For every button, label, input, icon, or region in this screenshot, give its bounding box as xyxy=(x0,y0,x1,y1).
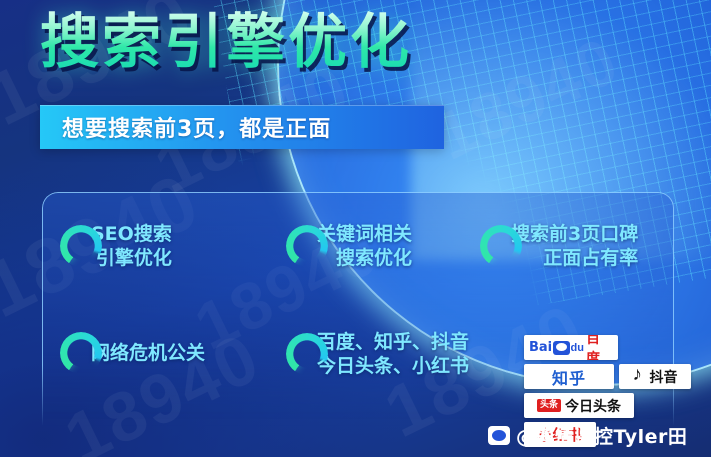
feature-label: 搜索前3页口碑 正面占有率 xyxy=(511,222,638,271)
page-title: 搜索引擎优化 xyxy=(40,9,412,75)
feature-line-1: 百度、知乎、抖音 xyxy=(317,331,469,353)
feature-label: 关键词相关 搜索优化 xyxy=(317,222,412,271)
zhihu-cn: 知乎 xyxy=(552,365,586,389)
toutiao-logo[interactable]: 头条 今日头条 xyxy=(524,393,634,418)
douyin-cn: 抖音 xyxy=(650,367,678,387)
baidu-logo[interactable]: Bai du 百度 xyxy=(524,335,618,360)
feature-item-top3pages[interactable]: 搜索前3页口碑 正面占有率 xyxy=(480,222,638,271)
baidu-sub: du xyxy=(571,342,584,354)
feature-line-2: 引擎优化 xyxy=(91,246,172,270)
feature-item-seo[interactable]: SEO搜索 引擎优化 xyxy=(60,222,172,271)
baidu-paw-icon xyxy=(488,426,510,445)
author-handle: @舆情监控Tyler田 xyxy=(516,422,687,449)
arc-c-icon xyxy=(60,225,102,267)
subtitle-bar: 想要搜索前3页，都是正面 xyxy=(40,105,444,149)
arc-c-icon xyxy=(286,225,328,267)
subtitle-text: 想要搜索前3页，都是正面 xyxy=(62,111,331,143)
zhihu-logo[interactable]: 知乎 xyxy=(524,364,614,389)
poster-canvas: 18940 18940 18940 18940 18940 18940 1894… xyxy=(0,0,711,457)
feature-line-1: 网络危机公关 xyxy=(91,342,205,364)
feature-line-2: 正面占有率 xyxy=(511,246,638,270)
feature-label: 网络危机公关 xyxy=(91,344,205,363)
feature-line-2: 今日头条、小红书 xyxy=(317,354,469,378)
arc-c-icon xyxy=(480,225,522,267)
arc-c-icon xyxy=(60,332,102,374)
toutiao-tag: 头条 xyxy=(537,399,561,412)
feature-item-keyword[interactable]: 关键词相关 搜索优化 xyxy=(286,222,412,271)
feature-line-1: 搜索前3页口碑 xyxy=(511,223,638,245)
feature-label: 百度、知乎、抖音 今日头条、小红书 xyxy=(317,330,469,379)
author-watermark: @舆情监控Tyler田 xyxy=(488,422,687,449)
arc-c-icon xyxy=(286,333,328,375)
feature-item-platforms[interactable]: 百度、知乎、抖音 今日头条、小红书 xyxy=(286,330,469,379)
baidu-paw-icon xyxy=(553,341,569,355)
feature-line-2: 搜索优化 xyxy=(317,246,412,270)
music-note-icon xyxy=(633,369,647,385)
feature-item-crisis-pr[interactable]: 网络危机公关 xyxy=(60,332,205,374)
toutiao-cn: 今日头条 xyxy=(565,396,621,416)
baidu-latin: Bai xyxy=(529,340,552,355)
feature-line-1: 关键词相关 xyxy=(317,223,412,245)
baidu-cn: 百度 xyxy=(586,335,613,360)
douyin-logo[interactable]: 抖音 xyxy=(619,364,691,389)
feature-line-1: SEO搜索 xyxy=(91,223,172,245)
feature-label: SEO搜索 引擎优化 xyxy=(91,222,172,271)
